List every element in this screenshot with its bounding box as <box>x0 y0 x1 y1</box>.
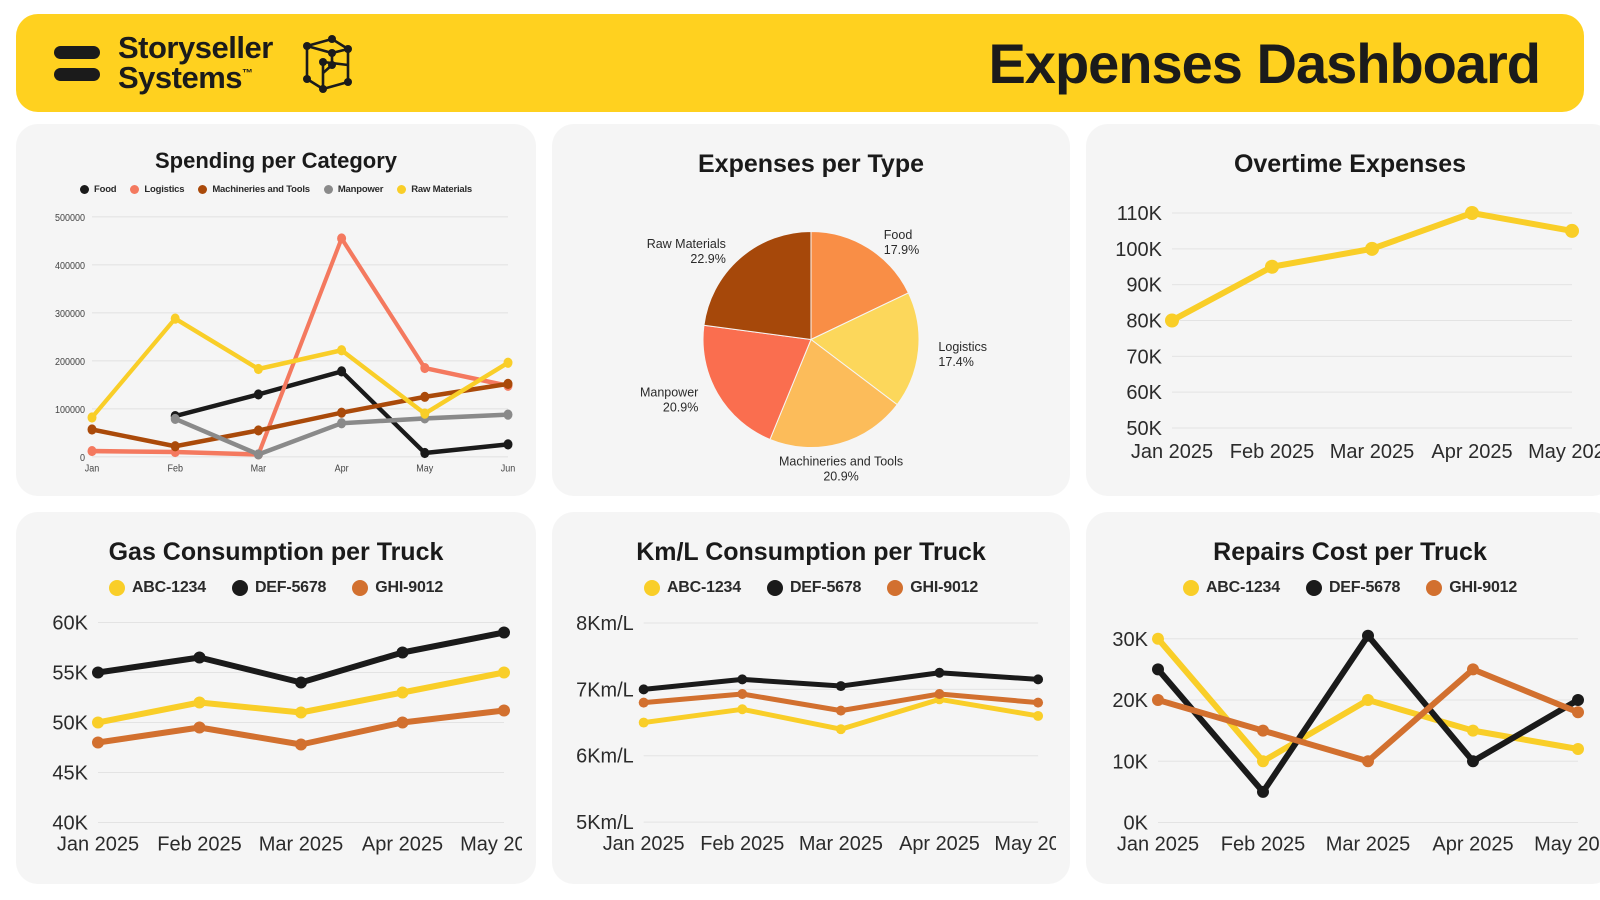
svg-text:Mar 2025: Mar 2025 <box>799 833 883 855</box>
legend-gas: ABC-1234 DEF-5678 GHI-9012 <box>30 579 522 597</box>
svg-text:Manpower: Manpower <box>640 386 698 400</box>
legend-label-raw-materials: Raw Materials <box>411 184 472 195</box>
legend-dot-def-5678 <box>767 580 783 596</box>
svg-text:May 2025: May 2025 <box>460 834 522 856</box>
svg-text:30K: 30K <box>1112 629 1148 651</box>
legend-label-machineries: Machineries and Tools <box>212 184 310 195</box>
svg-text:70K: 70K <box>1126 346 1162 368</box>
legend-item-abc-1234[interactable]: ABC-1234 <box>644 579 741 597</box>
card-overtime-expenses: Overtime Expenses 50K60K70K80K90K100K110… <box>1086 124 1600 496</box>
svg-text:Mar 2025: Mar 2025 <box>1326 834 1411 856</box>
plot-overtime: 50K60K70K80K90K100K110KJan 2025Feb 2025M… <box>1100 185 1600 484</box>
plot-spending: 0100000200000300000400000500000JanFebMar… <box>30 201 522 484</box>
brand-logo[interactable]: Storyseller Systems™ <box>54 32 357 94</box>
svg-text:Jan 2025: Jan 2025 <box>1117 834 1199 856</box>
svg-text:100000: 100000 <box>55 405 85 417</box>
svg-text:60K: 60K <box>1126 382 1162 404</box>
svg-text:Apr 2025: Apr 2025 <box>1431 441 1512 463</box>
legend-label-def-5678: DEF-5678 <box>255 579 326 597</box>
svg-text:Apr 2025: Apr 2025 <box>362 834 443 856</box>
svg-text:50K: 50K <box>52 713 88 735</box>
svg-text:6Km/L: 6Km/L <box>576 746 634 768</box>
svg-text:100K: 100K <box>1115 239 1162 261</box>
chart-title-kml: Km/L Consumption per Truck <box>566 538 1056 567</box>
svg-text:50K: 50K <box>1126 418 1162 440</box>
card-gas-consumption: Gas Consumption per Truck ABC-1234 DEF-5… <box>16 512 536 884</box>
legend-dot-machineries <box>198 185 207 194</box>
svg-text:Feb: Feb <box>167 463 183 475</box>
svg-text:Raw Materials: Raw Materials <box>647 237 726 251</box>
svg-text:Jan 2025: Jan 2025 <box>57 834 139 856</box>
legend-spending: Food Logistics Machineries and Tools Man… <box>30 184 522 195</box>
legend-label-ghi-9012: GHI-9012 <box>1449 579 1517 597</box>
brand-name: Storyseller Systems™ <box>118 33 273 94</box>
svg-text:17.9%: 17.9% <box>884 243 919 257</box>
svg-text:Jan 2025: Jan 2025 <box>1131 441 1213 463</box>
legend-item-logistics[interactable]: Logistics <box>130 184 184 195</box>
svg-text:Jan 2025: Jan 2025 <box>603 833 685 855</box>
legend-label-def-5678: DEF-5678 <box>1329 579 1400 597</box>
svg-text:7Km/L: 7Km/L <box>576 679 634 701</box>
svg-text:Feb 2025: Feb 2025 <box>1221 834 1306 856</box>
legend-item-def-5678[interactable]: DEF-5678 <box>1306 579 1400 597</box>
svg-text:20.9%: 20.9% <box>823 469 858 483</box>
svg-text:Apr 2025: Apr 2025 <box>899 833 980 855</box>
legend-item-manpower[interactable]: Manpower <box>324 184 383 195</box>
svg-text:45K: 45K <box>52 763 88 785</box>
legend-label-logistics: Logistics <box>144 184 184 195</box>
legend-item-raw-materials[interactable]: Raw Materials <box>397 184 472 195</box>
svg-text:Mar 2025: Mar 2025 <box>259 834 344 856</box>
charts-grid: Spending per Category Food Logistics Mac… <box>16 124 1584 884</box>
legend-label-ghi-9012: GHI-9012 <box>375 579 443 597</box>
legend-item-food[interactable]: Food <box>80 184 116 195</box>
legend-repairs: ABC-1234 DEF-5678 GHI-9012 <box>1100 579 1600 597</box>
svg-text:May 2025: May 2025 <box>1534 834 1600 856</box>
legend-item-def-5678[interactable]: DEF-5678 <box>767 579 861 597</box>
legend-label-ghi-9012: GHI-9012 <box>910 579 978 597</box>
chart-title-pie: Expenses per Type <box>566 150 1056 179</box>
plot-repairs: 0K10K20K30KJan 2025Feb 2025Mar 2025Apr 2… <box>1100 603 1600 872</box>
brand-line-2: Systems <box>118 60 242 95</box>
svg-text:Food: Food <box>884 228 913 242</box>
svg-text:May 2025: May 2025 <box>994 833 1056 855</box>
svg-text:Feb 2025: Feb 2025 <box>1230 441 1315 463</box>
svg-text:90K: 90K <box>1126 275 1162 297</box>
legend-item-ghi-9012[interactable]: GHI-9012 <box>887 579 978 597</box>
svg-text:200000: 200000 <box>55 357 85 369</box>
svg-text:Apr: Apr <box>335 463 350 475</box>
legend-item-machineries[interactable]: Machineries and Tools <box>198 184 310 195</box>
plot-pie: Food17.9%Logistics17.4%Machineries and T… <box>566 185 1056 484</box>
legend-item-ghi-9012[interactable]: GHI-9012 <box>1426 579 1517 597</box>
card-spending-per-category: Spending per Category Food Logistics Mac… <box>16 124 536 496</box>
legend-item-def-5678[interactable]: DEF-5678 <box>232 579 326 597</box>
legend-dot-ghi-9012 <box>352 580 368 596</box>
plot-kml: 5Km/L6Km/L7Km/L8Km/LJan 2025Feb 2025Mar … <box>566 603 1056 872</box>
svg-text:Logistics: Logistics <box>938 340 987 354</box>
svg-text:20K: 20K <box>1112 690 1148 712</box>
svg-text:Feb 2025: Feb 2025 <box>700 833 784 855</box>
svg-text:Mar: Mar <box>251 463 267 475</box>
svg-text:500000: 500000 <box>55 213 85 225</box>
legend-label-abc-1234: ABC-1234 <box>667 579 741 597</box>
card-expenses-per-type: Expenses per Type Food17.9%Logistics17.4… <box>552 124 1070 496</box>
svg-text:60K: 60K <box>52 613 88 635</box>
legend-label-food: Food <box>94 184 116 195</box>
legend-label-abc-1234: ABC-1234 <box>1206 579 1280 597</box>
svg-text:55K: 55K <box>52 663 88 685</box>
svg-text:Feb 2025: Feb 2025 <box>157 834 242 856</box>
legend-label-abc-1234: ABC-1234 <box>132 579 206 597</box>
legend-item-ghi-9012[interactable]: GHI-9012 <box>352 579 443 597</box>
dashboard-header: Storyseller Systems™ Expenses Dashboar <box>16 14 1584 112</box>
svg-text:17.4%: 17.4% <box>938 355 973 369</box>
svg-text:300000: 300000 <box>55 309 85 321</box>
legend-dot-logistics <box>130 185 139 194</box>
legend-dot-manpower <box>324 185 333 194</box>
card-repairs-cost: Repairs Cost per Truck ABC-1234 DEF-5678… <box>1086 512 1600 884</box>
svg-text:Jun: Jun <box>501 463 516 475</box>
legend-dot-ghi-9012 <box>1426 580 1442 596</box>
cube-network-icon <box>295 32 357 94</box>
chart-title-repairs: Repairs Cost per Truck <box>1100 538 1600 567</box>
legend-item-abc-1234[interactable]: ABC-1234 <box>109 579 206 597</box>
legend-dot-ghi-9012 <box>887 580 903 596</box>
chart-title-gas: Gas Consumption per Truck <box>30 538 522 567</box>
svg-text:5Km/L: 5Km/L <box>576 812 634 834</box>
legend-kml: ABC-1234 DEF-5678 GHI-9012 <box>566 579 1056 597</box>
legend-label-def-5678: DEF-5678 <box>790 579 861 597</box>
trademark-symbol: ™ <box>242 68 253 80</box>
legend-dot-food <box>80 185 89 194</box>
dashboard-page: Storyseller Systems™ Expenses Dashboar <box>0 0 1600 900</box>
svg-text:20.9%: 20.9% <box>663 401 698 415</box>
svg-text:40K: 40K <box>52 813 88 835</box>
svg-text:Mar 2025: Mar 2025 <box>1330 441 1415 463</box>
legend-dot-abc-1234 <box>1183 580 1199 596</box>
legend-dot-def-5678 <box>232 580 248 596</box>
legend-dot-abc-1234 <box>644 580 660 596</box>
svg-text:0K: 0K <box>1124 813 1149 835</box>
svg-text:8Km/L: 8Km/L <box>576 613 634 635</box>
legend-dot-abc-1234 <box>109 580 125 596</box>
svg-text:10K: 10K <box>1112 751 1148 773</box>
svg-text:22.9%: 22.9% <box>690 252 725 266</box>
legend-item-abc-1234[interactable]: ABC-1234 <box>1183 579 1280 597</box>
svg-text:400000: 400000 <box>55 261 85 273</box>
plot-gas: 40K45K50K55K60KJan 2025Feb 2025Mar 2025A… <box>30 603 522 872</box>
chart-title-overtime: Overtime Expenses <box>1100 150 1600 179</box>
page-title: Expenses Dashboard <box>988 31 1540 96</box>
legend-label-manpower: Manpower <box>338 184 383 195</box>
svg-text:Machineries and Tools: Machineries and Tools <box>779 454 903 468</box>
legend-dot-raw-materials <box>397 185 406 194</box>
chart-title-spending: Spending per Category <box>30 148 522 174</box>
svg-text:May: May <box>416 463 433 475</box>
svg-text:Jan: Jan <box>85 463 100 475</box>
svg-text:110K: 110K <box>1117 203 1163 225</box>
svg-text:May 2025: May 2025 <box>1528 441 1600 463</box>
equals-bars-icon <box>54 46 100 81</box>
legend-dot-def-5678 <box>1306 580 1322 596</box>
svg-text:Apr 2025: Apr 2025 <box>1432 834 1513 856</box>
card-kml-consumption: Km/L Consumption per Truck ABC-1234 DEF-… <box>552 512 1070 884</box>
svg-text:80K: 80K <box>1126 311 1162 333</box>
